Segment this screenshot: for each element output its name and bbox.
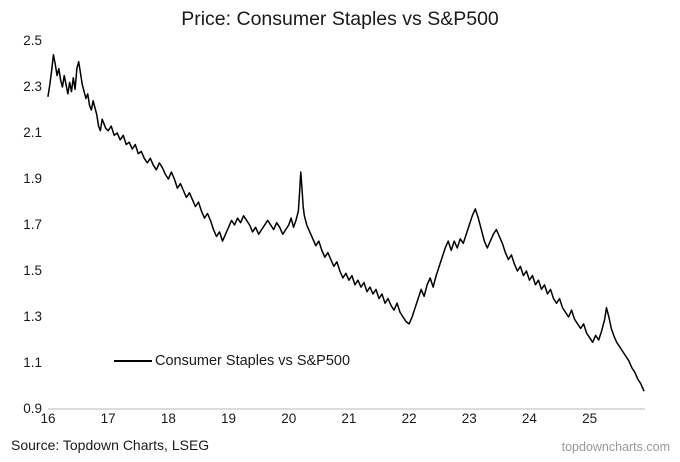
watermark: topdowncharts.com: [562, 440, 670, 454]
legend: Consumer Staples vs S&P500: [114, 350, 350, 372]
x-tick-label: 19: [209, 412, 249, 426]
x-tick-label: 22: [389, 412, 429, 426]
x-tick-label: 16: [28, 412, 68, 426]
x-tick-label: 20: [269, 412, 309, 426]
legend-line-marker: [114, 360, 152, 362]
x-tick-label: 25: [570, 412, 610, 426]
x-tick-label: 21: [329, 412, 369, 426]
plot-area: [0, 0, 680, 462]
x-tick-label: 24: [509, 412, 549, 426]
x-tick-label: 17: [88, 412, 128, 426]
x-axis: 16171819202122232425: [0, 412, 680, 432]
source-note: Source: Topdown Charts, LSEG: [11, 437, 209, 453]
legend-label: Consumer Staples vs S&P500: [155, 353, 350, 369]
chart-container: Price: Consumer Staples vs S&P500 2.52.3…: [0, 0, 680, 462]
x-tick-label: 18: [148, 412, 188, 426]
x-tick-label: 23: [449, 412, 489, 426]
series-line-consumer-staples-vs-sp500: [48, 55, 644, 391]
